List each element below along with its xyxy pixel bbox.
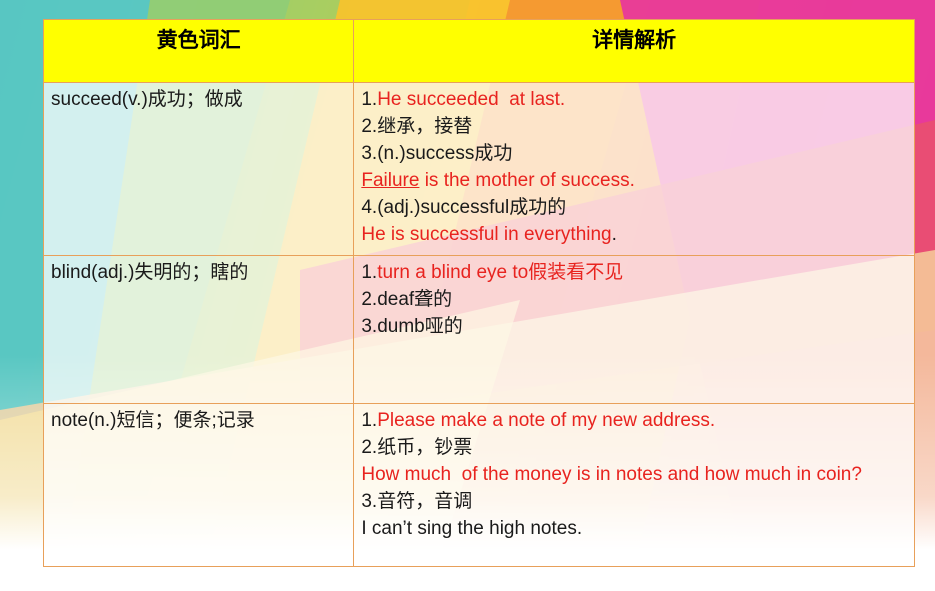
detail-text-segment: turn a blind eye to <box>377 262 528 283</box>
detail-text-segment: 继承，接替 <box>377 116 472 137</box>
table-body: succeed(v.)成功；做成1.He succeeded at last.2… <box>44 83 915 567</box>
term-cell: note(n.)短信；便条;记录 <box>44 403 354 566</box>
detail-line: Failure is the mother of success. <box>361 168 907 195</box>
detail-text-segment: . <box>612 224 617 245</box>
detail-text-segment: deaf聋的 <box>377 289 452 310</box>
detail-line: 3.音符，音调 <box>361 489 907 516</box>
detail-text-segment: (n.)success成功 <box>377 143 512 164</box>
detail-text-segment: I can’t sing the high notes. <box>361 518 582 539</box>
detail-line-number: 1. <box>361 262 377 283</box>
detail-line: 1.turn a blind eye to假装看不见 <box>361 260 907 287</box>
term-text: blind(adj.)失明的；瞎的 <box>51 262 248 283</box>
detail-line: 2.继承，接替 <box>361 114 907 141</box>
detail-line: He is successful in everything. <box>361 222 907 249</box>
detail-text-segment: dumb哑的 <box>377 316 463 337</box>
detail-text-segment: How much of the money is in notes and ho… <box>361 464 862 485</box>
detail-text-segment: He is successful in everything <box>361 224 611 245</box>
detail-line-number: 2. <box>361 289 377 310</box>
term-text: note(n.)短信；便条;记录 <box>51 410 255 431</box>
detail-line: 3.dumb哑的 <box>361 314 907 341</box>
detail-line: 4.(adj.)successful成功的 <box>361 195 907 222</box>
detail-text-segment: 音符，音调 <box>377 491 472 512</box>
detail-text-segment: He succeeded at last. <box>377 89 565 110</box>
detail-line: 2.deaf聋的 <box>361 287 907 314</box>
detail-line: 1.Please make a note of my new address. <box>361 408 907 435</box>
detail-cell: 1.turn a blind eye to假装看不见2.deaf聋的3.dumb… <box>354 255 915 403</box>
detail-line: 2.纸币，钞票 <box>361 435 907 462</box>
detail-line-number: 2. <box>361 116 377 137</box>
column-header-term: 黄色词汇 <box>44 20 354 83</box>
detail-cell: 1.He succeeded at last.2.继承，接替3.(n.)succ… <box>354 83 915 256</box>
detail-line-number: 1. <box>361 89 377 110</box>
table-row: blind(adj.)失明的；瞎的1.turn a blind eye to假装… <box>44 255 915 403</box>
detail-line: I can’t sing the high notes. <box>361 516 907 543</box>
detail-line-number: 3. <box>361 491 377 512</box>
detail-line: 1.He succeeded at last. <box>361 87 907 114</box>
detail-line: How much of the money is in notes and ho… <box>361 462 907 489</box>
detail-line-number: 3. <box>361 316 377 337</box>
detail-text-segment: is the mother of success. <box>419 170 634 191</box>
column-header-detail: 详情解析 <box>354 20 915 83</box>
detail-line-number: 3. <box>361 143 377 164</box>
detail-text-segment: 假装看不见 <box>528 262 623 283</box>
term-cell: blind(adj.)失明的；瞎的 <box>44 255 354 403</box>
detail-text-segment: Failure <box>361 170 419 191</box>
detail-text-segment: 纸币，钞票 <box>377 437 472 458</box>
vocabulary-table: 黄色词汇 详情解析 succeed(v.)成功；做成1.He succeeded… <box>43 19 915 567</box>
detail-line-number: 4. <box>361 197 377 218</box>
detail-line-number: 2. <box>361 437 377 458</box>
term-text: succeed(v.)成功；做成 <box>51 89 243 110</box>
table-header: 黄色词汇 详情解析 <box>44 20 915 83</box>
detail-line: 3.(n.)success成功 <box>361 141 907 168</box>
table-row: note(n.)短信；便条;记录1.Please make a note of … <box>44 403 915 566</box>
table-row: succeed(v.)成功；做成1.He succeeded at last.2… <box>44 83 915 256</box>
table-header-row: 黄色词汇 详情解析 <box>44 20 915 83</box>
detail-text-segment: (adj.)successful成功的 <box>377 197 566 218</box>
detail-cell: 1.Please make a note of my new address.2… <box>354 403 915 566</box>
term-cell: succeed(v.)成功；做成 <box>44 83 354 256</box>
detail-text-segment: Please make a note of my new address. <box>377 410 715 431</box>
detail-line-number: 1. <box>361 410 377 431</box>
